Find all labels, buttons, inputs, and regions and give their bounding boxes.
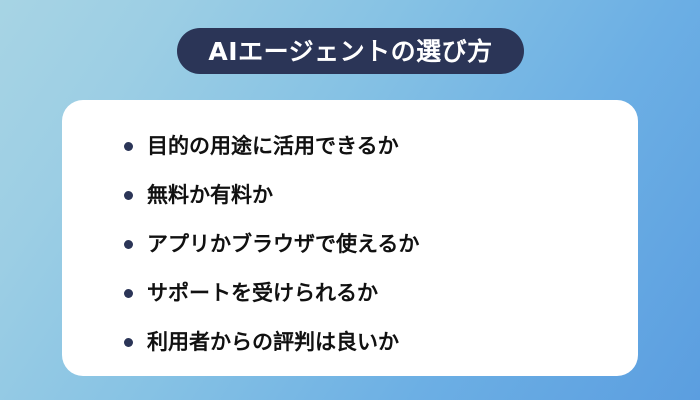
bullet-icon	[124, 338, 133, 347]
list-item-label: 目的の用途に活用できるか	[147, 136, 399, 157]
slide-canvas: AIエージェントの選び方 目的の用途に活用できるか 無料か有料か アプリかブラウ…	[0, 0, 700, 400]
list-item-label: 無料か有料か	[147, 185, 273, 206]
list-item-label: 利用者からの評判は良いか	[147, 332, 399, 353]
checklist: 目的の用途に活用できるか 無料か有料か アプリかブラウザで使えるか サポートを受…	[124, 122, 419, 367]
page-title: AIエージェントの選び方	[208, 39, 492, 64]
bullet-icon	[124, 191, 133, 200]
bullet-icon	[124, 142, 133, 151]
list-item: アプリかブラウザで使えるか	[124, 220, 419, 269]
list-item: 無料か有料か	[124, 171, 419, 220]
list-item: 利用者からの評判は良いか	[124, 318, 419, 367]
list-item: サポートを受けられるか	[124, 269, 419, 318]
list-item-label: サポートを受けられるか	[147, 283, 378, 304]
list-item-label: アプリかブラウザで使えるか	[147, 234, 419, 255]
list-item: 目的の用途に活用できるか	[124, 122, 419, 171]
bullet-icon	[124, 289, 133, 298]
title-banner: AIエージェントの選び方	[177, 28, 524, 74]
content-card: 目的の用途に活用できるか 無料か有料か アプリかブラウザで使えるか サポートを受…	[62, 100, 638, 376]
bullet-icon	[124, 240, 133, 249]
